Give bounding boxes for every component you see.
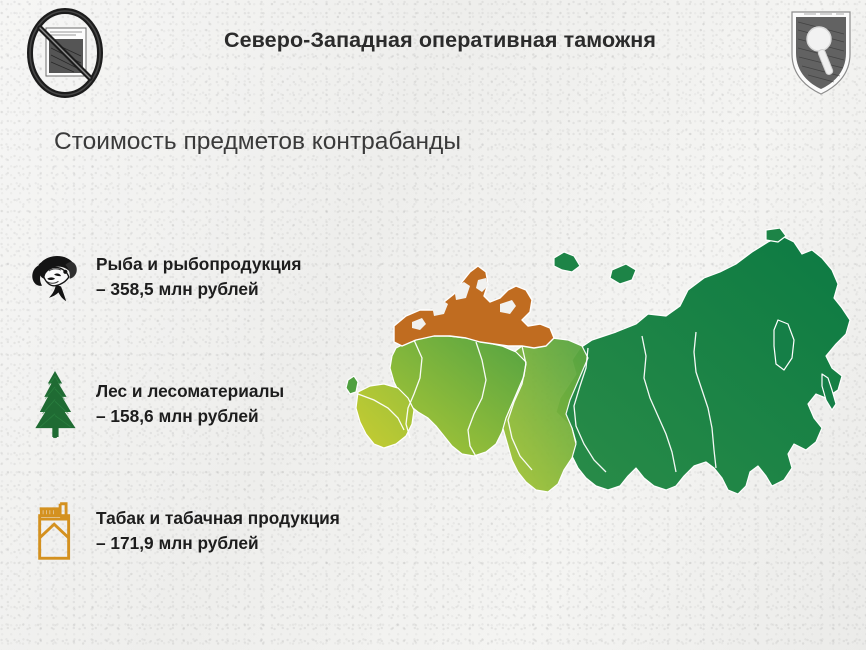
russia-federal-districts-map [336, 228, 864, 568]
list-item-text: Рыба и рыбопродукция – 358,5 млн рублей [96, 252, 301, 301]
cigarette-pack-icon [24, 492, 86, 570]
island-severnaya-zemlya [554, 252, 580, 272]
district-far-east [556, 236, 850, 494]
list-item-fish: Рыба и рыбопродукция – 358,5 млн рублей [24, 238, 384, 316]
customs-shield-magnifier-logo [786, 6, 856, 98]
conifer-tree-icon [24, 365, 86, 443]
island-novosibirsk [610, 264, 636, 284]
list-item-line2: – 158,6 млн рублей [96, 404, 284, 429]
list-item-timber: Лес и лесоматериалы – 158,6 млн рублей [24, 365, 384, 443]
list-item-line2: – 358,5 млн рублей [96, 277, 301, 302]
contraband-items-list: Рыба и рыбопродукция – 358,5 млн рублей [0, 0, 390, 650]
list-item-text: Лес и лесоматериалы – 158,6 млн рублей [96, 379, 284, 428]
district-northwestern-highlight [394, 266, 554, 348]
kaliningrad-exclave [346, 376, 358, 394]
shield-magnifier-graphic [792, 12, 850, 94]
fish-icon [24, 238, 86, 316]
list-item-line1: Рыба и рыбопродукция [96, 254, 301, 274]
list-item-line1: Лес и лесоматериалы [96, 381, 284, 401]
slide-root: Северо-Западная оперативная таможня [0, 0, 866, 650]
list-item-tobacco: Табак и табачная продукция – 171,9 млн р… [24, 492, 384, 570]
list-item-text: Табак и табачная продукция – 171,9 млн р… [96, 506, 340, 555]
list-item-line1: Табак и табачная продукция [96, 508, 340, 528]
list-item-line2: – 171,9 млн рублей [96, 531, 340, 556]
